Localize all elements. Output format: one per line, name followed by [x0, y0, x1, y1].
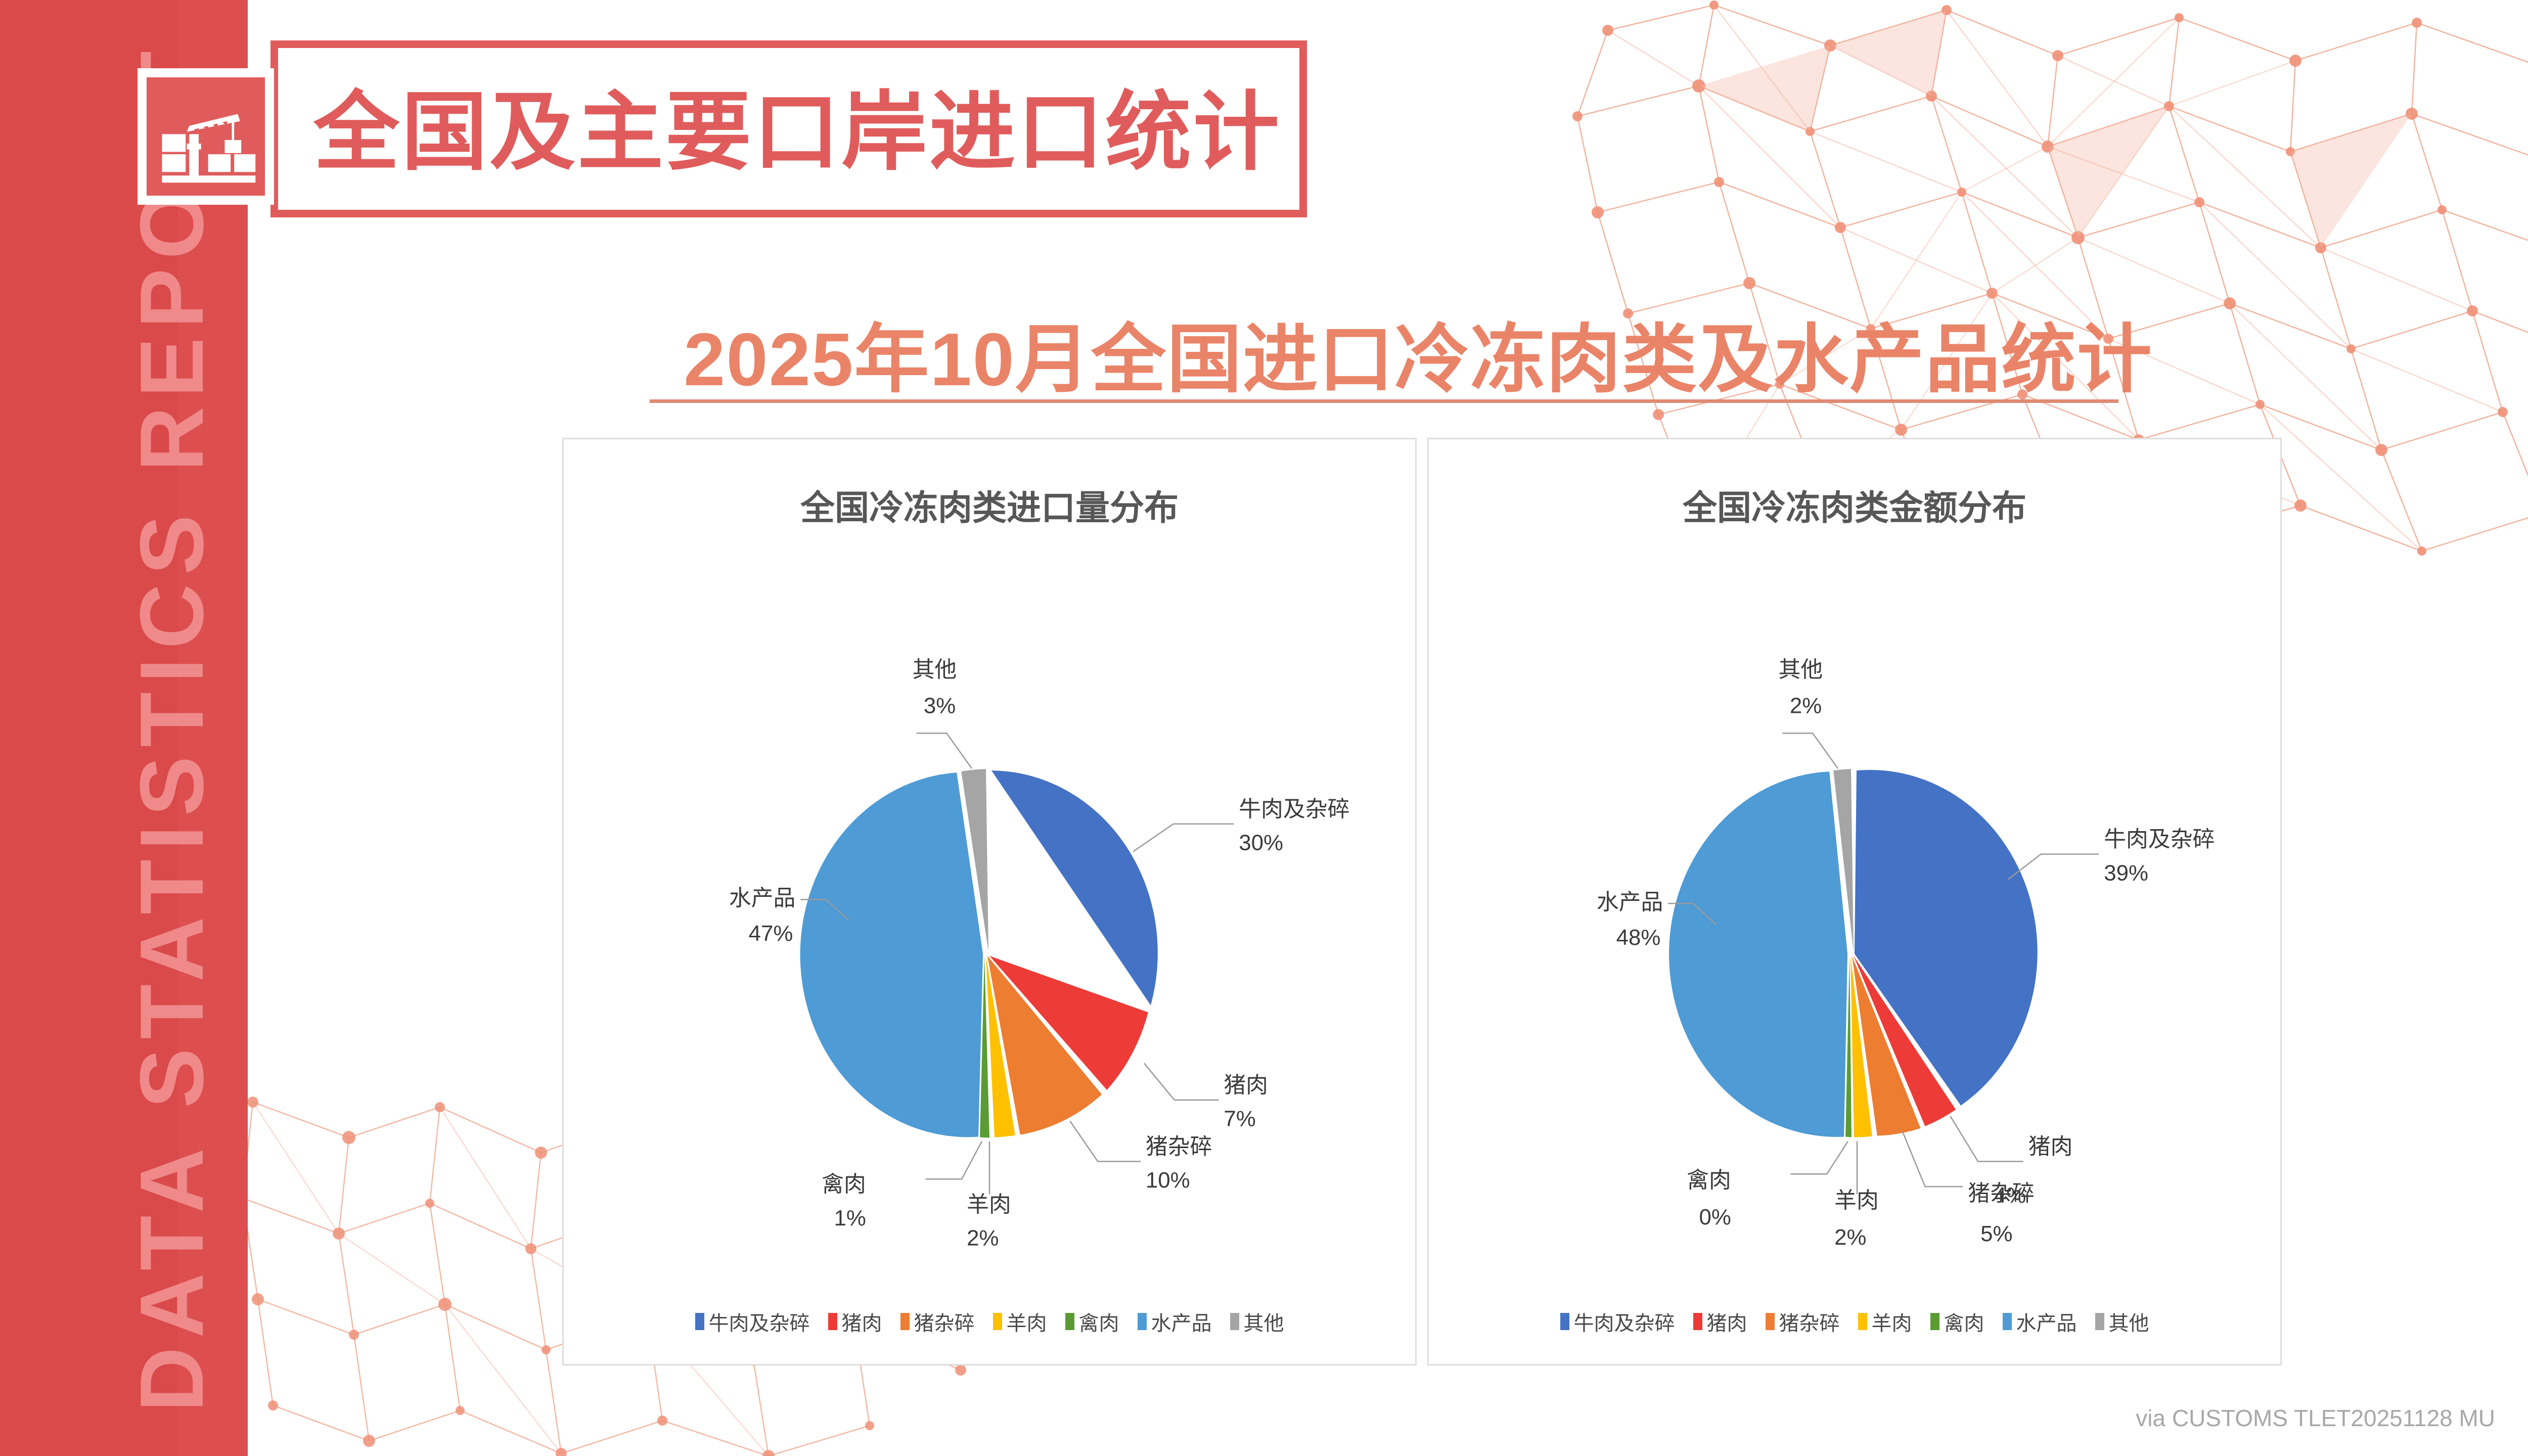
chart-card-value: 全国冷冻肉类金额分布 — [1427, 438, 2282, 1366]
legend-swatch-pork — [828, 1313, 837, 1330]
label-aquatic-name: 水产品 — [729, 886, 795, 911]
label-pork-name: 猪肉 — [2028, 1134, 2073, 1159]
label-aquatic-name: 水产品 — [1597, 890, 1663, 915]
legend-label: 禽肉 — [1944, 1307, 1984, 1336]
legend-item[interactable]: 水产品 — [1138, 1307, 1212, 1336]
label-mutton-name: 羊肉 — [967, 1192, 1011, 1217]
page-title-underline — [650, 399, 2118, 403]
label-aquatic-pct: 47% — [749, 921, 793, 946]
label-beef-pct: 39% — [2104, 860, 2148, 885]
label-aquatic-pct: 48% — [1616, 925, 1661, 950]
legend-label: 猪杂碎 — [1779, 1307, 1840, 1336]
legend-item[interactable]: 猪肉 — [828, 1307, 882, 1336]
left-brand-rail: DATA STATISTICS REPORT — [0, 0, 248, 1456]
pie-slice-aquatic — [800, 772, 983, 1137]
legend-item[interactable]: 禽肉 — [1065, 1307, 1119, 1336]
pie-chart-volume: 牛肉及杂碎 30% 猪肉 7% 猪杂碎 10% 羊肉 2% 禽肉 1% 水产品 … — [564, 566, 1415, 1289]
label-offal-name: 猪杂碎 — [1968, 1181, 2034, 1206]
label-poultry-pct: 1% — [834, 1206, 866, 1231]
logo-badge — [138, 68, 274, 205]
legend-swatch-pork — [1693, 1313, 1702, 1330]
legend-label: 猪肉 — [1707, 1307, 1747, 1336]
port-crane-container-icon — [147, 77, 265, 196]
source-attribution: via CUSTOMS TLET20251128 MU — [2136, 1404, 2495, 1432]
chart-title-value: 全国冷冻肉类金额分布 — [1429, 480, 2280, 530]
label-pork-name: 猪肉 — [1224, 1073, 1268, 1098]
label-mutton-pct: 2% — [1834, 1225, 1866, 1250]
label-beef-name: 牛肉及杂碎 — [2104, 827, 2215, 852]
legend-label: 猪杂碎 — [914, 1307, 975, 1336]
legend-item[interactable]: 羊肉 — [993, 1307, 1047, 1336]
legend-item[interactable]: 其他 — [1230, 1307, 1284, 1336]
legend-label: 其他 — [2109, 1307, 2149, 1336]
legend-item[interactable]: 猪杂碎 — [1766, 1307, 1840, 1336]
legend-label: 水产品 — [2016, 1307, 2077, 1336]
legend-label: 牛肉及杂碎 — [709, 1307, 810, 1336]
legend-item[interactable]: 猪肉 — [1693, 1307, 1747, 1336]
label-offal-pct: 5% — [1980, 1221, 2012, 1246]
pie-slice-aquatic — [1669, 771, 1847, 1137]
label-offal-pct: 10% — [1146, 1168, 1190, 1193]
label-other-pct: 3% — [924, 694, 956, 718]
legend-swatch-beef — [695, 1313, 704, 1330]
legend-swatch-aquatic — [1138, 1313, 1147, 1330]
label-other-pct: 2% — [1790, 694, 1822, 718]
chart-card-volume: 全国冷冻肉类进口量分布 — [562, 438, 1417, 1366]
label-poultry-pct: 0% — [1699, 1205, 1731, 1230]
legend-swatch-aquatic — [2003, 1313, 2012, 1330]
chart-title-volume: 全国冷冻肉类进口量分布 — [564, 480, 1415, 530]
legend-label: 禽肉 — [1079, 1307, 1119, 1336]
vertical-brand-text: DATA STATISTICS REPORT — [116, 19, 228, 1435]
legend-swatch-poultry — [1930, 1313, 1939, 1330]
label-poultry-name: 禽肉 — [822, 1172, 866, 1197]
label-mutton-name: 羊肉 — [1834, 1188, 1879, 1213]
chart-legend-volume: 牛肉及杂碎 猪肉 猪杂碎 羊肉 禽肉 水产品 其他 — [564, 1307, 1415, 1336]
legend-swatch-pork-offal — [900, 1313, 910, 1330]
legend-item[interactable]: 牛肉及杂碎 — [1560, 1307, 1675, 1336]
label-other-name: 其他 — [1779, 657, 1823, 682]
header-title: 全国及主要口岸进口统计 — [313, 67, 1281, 198]
legend-swatch-mutton — [993, 1313, 1002, 1330]
legend-item[interactable]: 猪杂碎 — [900, 1307, 975, 1336]
legend-item[interactable]: 其他 — [2095, 1307, 2149, 1336]
legend-item[interactable]: 水产品 — [2003, 1307, 2077, 1336]
legend-swatch-pork-offal — [1766, 1313, 1775, 1330]
legend-label: 水产品 — [1151, 1307, 1212, 1336]
legend-label: 羊肉 — [1872, 1307, 1912, 1336]
legend-label: 牛肉及杂碎 — [1574, 1307, 1675, 1336]
legend-label: 猪肉 — [842, 1307, 882, 1336]
page-title: 2025年10月全国进口冷冻肉类及水产品统计 — [248, 298, 2528, 407]
label-other-name: 其他 — [913, 657, 957, 682]
label-beef-name: 牛肉及杂碎 — [1239, 797, 1349, 822]
label-mutton-pct: 2% — [967, 1226, 999, 1251]
legend-swatch-other — [1230, 1313, 1239, 1330]
legend-swatch-mutton — [1858, 1313, 1867, 1330]
legend-swatch-other — [2095, 1313, 2104, 1330]
legend-label: 其他 — [1244, 1307, 1284, 1336]
chart-legend-value: 牛肉及杂碎 猪肉 猪杂碎 羊肉 禽肉 水产品 其他 — [1429, 1307, 2280, 1336]
label-poultry-name: 禽肉 — [1687, 1168, 1731, 1193]
legend-item[interactable]: 牛肉及杂碎 — [695, 1307, 810, 1336]
pie-chart-value: 牛肉及杂碎 39% 猪肉 4% 猪杂碎 5% 羊肉 2% 禽肉 0% 水产品 4… — [1429, 566, 2280, 1289]
legend-item[interactable]: 羊肉 — [1858, 1307, 1912, 1336]
slide-root: DATA STATISTICS REPORT 全国及主要口岸进口 — [0, 0, 2528, 1456]
label-offal-name: 猪杂碎 — [1146, 1134, 1212, 1159]
label-beef-pct: 30% — [1239, 831, 1283, 855]
legend-swatch-poultry — [1065, 1313, 1074, 1330]
legend-label: 羊肉 — [1007, 1307, 1047, 1336]
legend-item[interactable]: 禽肉 — [1930, 1307, 1984, 1336]
legend-swatch-beef — [1560, 1313, 1569, 1330]
label-pork-pct: 7% — [1224, 1107, 1255, 1131]
